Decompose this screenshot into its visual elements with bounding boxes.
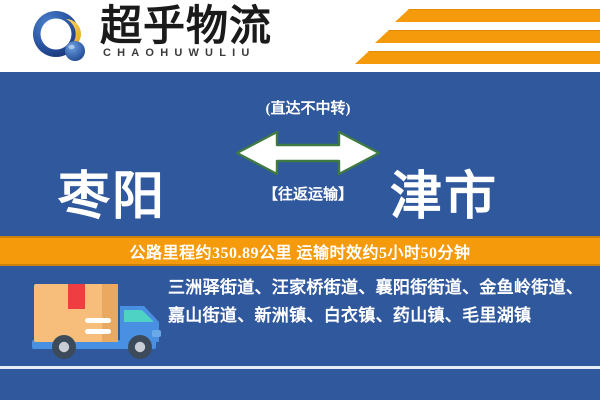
orange-stripes-decoration-icon xyxy=(350,6,600,66)
stripe-2 xyxy=(375,30,600,43)
coverage-line-2: 嘉山街道、新洲镇、白衣镇、药山镇、毛里湖镇 xyxy=(168,302,588,330)
coverage-line-1: 三洲驿街道、汪家桥街道、襄阳街街道、金鱼岭街道、 xyxy=(168,274,588,302)
stripe-1 xyxy=(395,9,600,22)
logistics-route-banner: 超乎物流 CHAOHUWULIU 枣阳 (直达不中转) 【往返运输】 津市 公路… xyxy=(0,0,600,400)
ground-line xyxy=(0,366,600,369)
route-section: 枣阳 (直达不中转) 【往返运输】 津市 xyxy=(0,72,600,236)
stripe-3 xyxy=(355,51,600,64)
brand-name-en: CHAOHUWULIU xyxy=(103,47,256,59)
delivery-truck-icon xyxy=(28,278,173,369)
coverage-area-list: 三洲驿街道、汪家桥街道、襄阳街街道、金鱼岭街道、 嘉山街道、新洲镇、白衣镇、药山… xyxy=(168,274,588,330)
distance-duration-text: 公路里程约350.89公里 运输时效约5小时50分钟 xyxy=(129,239,470,263)
brand-name-cn: 超乎物流 xyxy=(100,4,272,48)
route-arrow-group: (直达不中转) 【往返运输】 xyxy=(232,100,384,214)
origin-city: 枣阳 xyxy=(58,170,166,226)
bidirectional-arrow-icon xyxy=(232,126,384,185)
circle-q-logo-icon xyxy=(26,9,96,65)
coverage-section: 三洲驿街道、汪家桥街道、襄阳街街道、金鱼岭街道、 嘉山街道、新洲镇、白衣镇、药山… xyxy=(0,266,600,400)
direct-service-note: (直达不中转) xyxy=(232,100,384,118)
distance-duration-bar: 公路里程约350.89公里 运输时效约5小时50分钟 xyxy=(0,236,600,266)
destination-city: 津市 xyxy=(390,170,498,226)
header-bar: 超乎物流 CHAOHUWULIU xyxy=(0,0,600,72)
